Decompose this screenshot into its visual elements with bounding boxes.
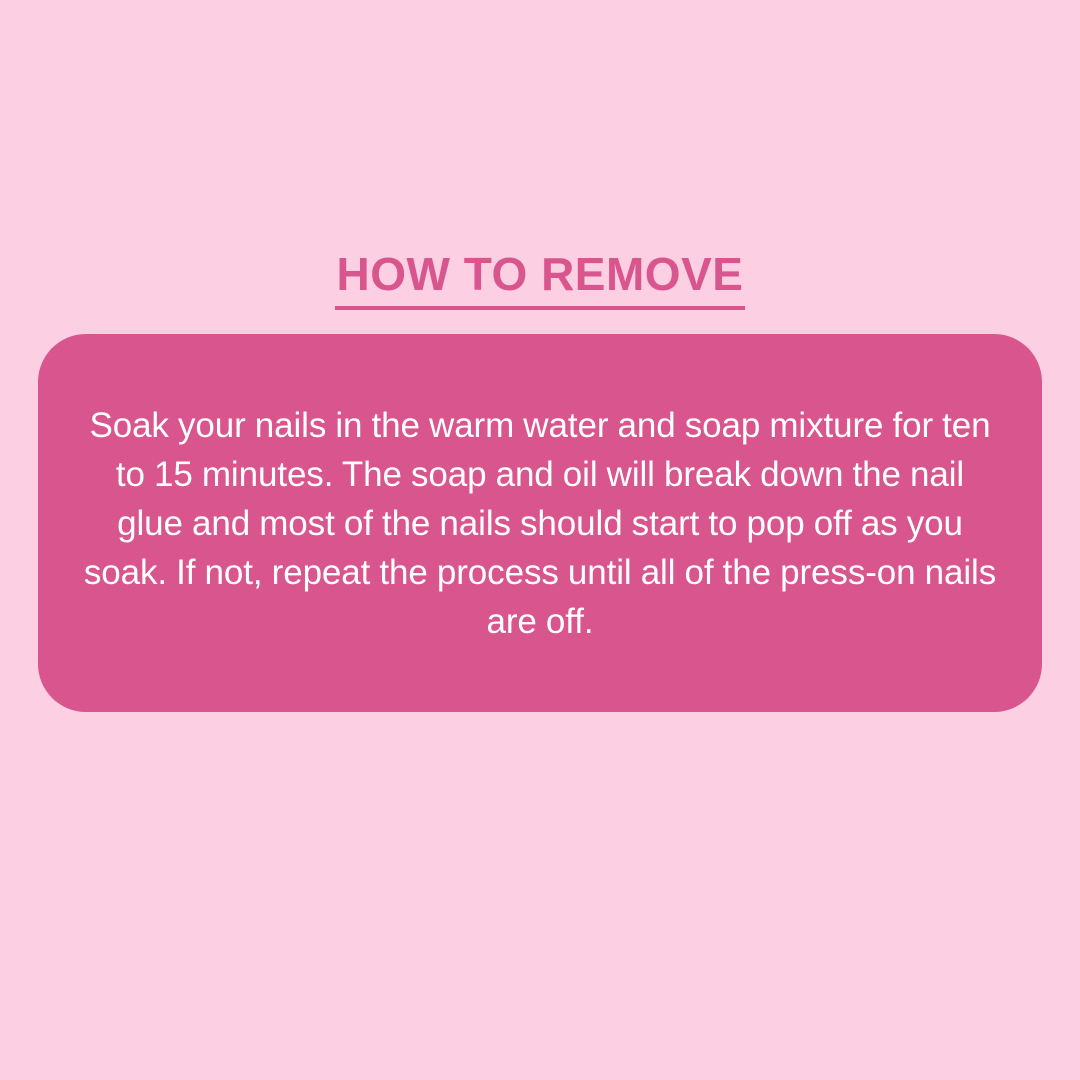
poster-canvas: HOW TO REMOVE Soak your nails in the war… (0, 0, 1080, 1080)
title-block: HOW TO REMOVE (0, 248, 1080, 310)
page-title: HOW TO REMOVE (335, 248, 746, 310)
instruction-body-text: Soak your nails in the warm water and so… (60, 401, 1020, 646)
instruction-card: Soak your nails in the warm water and so… (38, 334, 1042, 712)
